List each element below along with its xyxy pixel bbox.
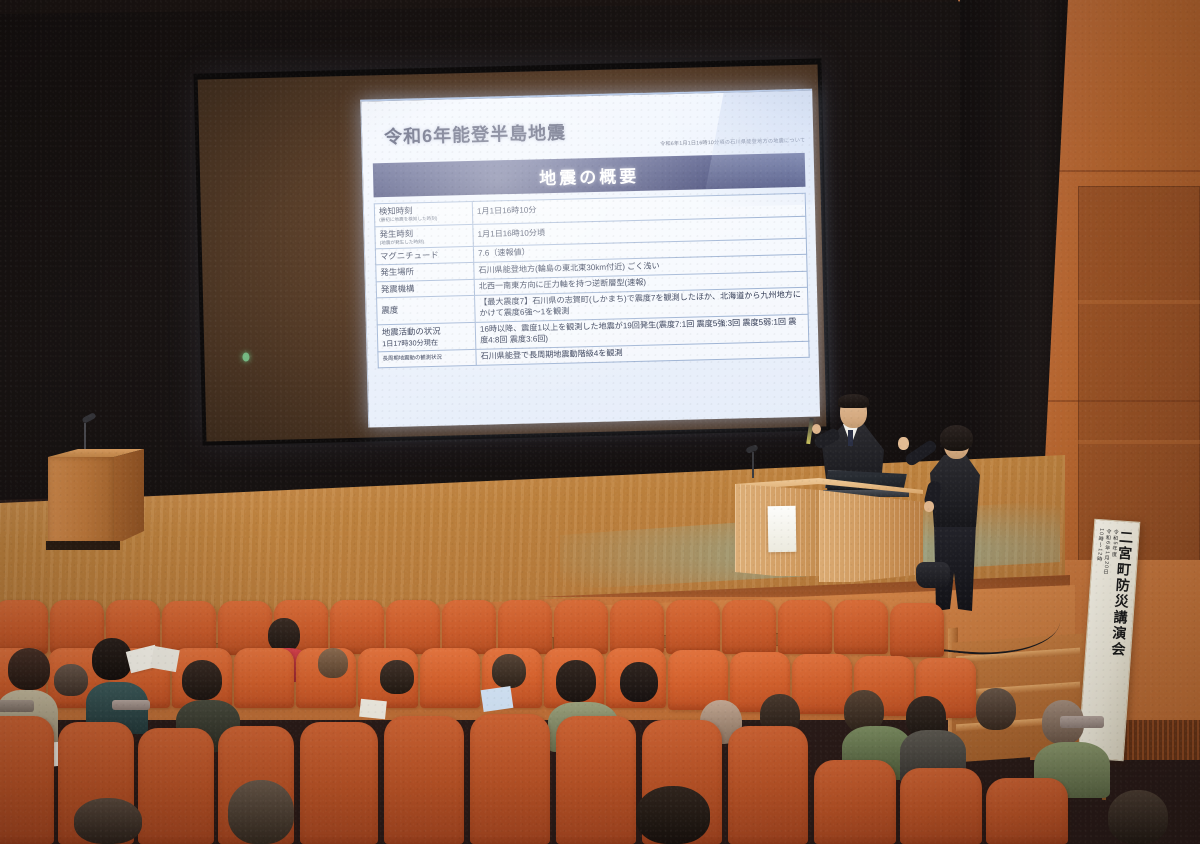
seat[interactable] <box>814 760 896 844</box>
table-row-label: 検知時刻 (最初に地震を検知した時刻) <box>374 201 473 226</box>
podium-mic-stem <box>84 423 86 451</box>
slide-subtitle: 令和6年1月1日16時10分頃の石川県能登地方の地震について <box>660 137 805 148</box>
seat[interactable] <box>386 600 440 654</box>
slide-section-heading-text: 地震の概要 <box>539 161 640 188</box>
row-label-main: 発震機構 <box>381 282 470 296</box>
audience-head <box>556 660 596 702</box>
lectern-right-face <box>819 490 923 582</box>
projection-screen: 令和6年能登半島地震 令和6年1月1日16時10分頃の石川県能登地方の地震につい… <box>194 58 831 445</box>
slide-title: 令和6年能登半島地震 <box>384 119 567 149</box>
handout-paper <box>150 646 179 672</box>
wooden-lectern <box>735 470 925 590</box>
audience-head <box>268 618 300 652</box>
seat[interactable] <box>384 716 464 844</box>
audience-head <box>976 688 1016 730</box>
seat[interactable] <box>0 600 48 654</box>
seat[interactable] <box>556 716 636 844</box>
device-screen <box>481 686 514 712</box>
seat[interactable] <box>218 601 272 655</box>
audience-head <box>92 638 132 680</box>
table-row-label: 震度 <box>377 296 476 325</box>
audience-head <box>54 664 88 696</box>
audience-head <box>492 654 526 688</box>
lectern-wood-slats <box>819 490 923 582</box>
row-label-sub: 1日17時30分現在 <box>382 337 471 349</box>
table-row-label: 発生時刻 (地震が発生した時刻) <box>375 224 474 249</box>
podium-front-panel <box>48 457 114 545</box>
wall-seam <box>1078 440 1200 444</box>
seat[interactable] <box>728 726 808 844</box>
audience-head <box>620 662 658 702</box>
seat[interactable] <box>138 728 214 844</box>
handout-paper <box>359 699 387 720</box>
audience-head <box>318 648 348 678</box>
audience-head <box>182 660 222 700</box>
seat[interactable] <box>610 600 664 654</box>
seat[interactable] <box>330 600 384 654</box>
seat[interactable] <box>162 601 216 655</box>
seat[interactable] <box>792 654 852 714</box>
seat[interactable] <box>234 648 294 708</box>
audience-head <box>8 648 50 690</box>
presentation-slide: 令和6年能登半島地震 令和6年1月1日16時10分頃の石川県能登地方の地震につい… <box>360 89 820 428</box>
seat[interactable] <box>666 600 720 654</box>
audience-head-foreground <box>1108 790 1168 844</box>
seat[interactable] <box>900 768 982 844</box>
interpreter-signing-hand <box>898 437 909 450</box>
seat[interactable] <box>890 603 944 657</box>
stage-left-podium <box>48 449 144 547</box>
row-label-sub: (最初に地震を検知した時刻) <box>379 215 468 223</box>
seat[interactable] <box>986 778 1068 844</box>
wall-seam <box>1078 300 1200 304</box>
seat-armrest <box>112 700 150 710</box>
seat[interactable] <box>554 600 608 654</box>
podium-base <box>46 541 120 550</box>
seat-armrest <box>0 700 34 712</box>
audience-head-foreground <box>636 786 710 844</box>
audience-head-foreground <box>228 780 294 844</box>
audience-head <box>380 660 414 694</box>
row-label-main: 発生場所 <box>380 265 469 279</box>
seat[interactable] <box>834 600 888 654</box>
table-row-label: 地震活動の状況 1日17時30分現在 <box>377 322 476 351</box>
audience-head-foreground <box>74 798 142 844</box>
row-label-main: 長周期地震動の観測状況 <box>382 354 471 363</box>
lectern-paper-sign <box>768 506 797 552</box>
interpreter-hair <box>940 425 973 451</box>
interpreter-lower-hand <box>924 501 934 512</box>
seat[interactable] <box>300 722 378 844</box>
speaker-hair <box>838 394 869 408</box>
table-row-label: 長周期地震動の観測状況 <box>378 349 476 367</box>
slide-glare <box>702 89 820 208</box>
seat-armrest <box>1060 716 1104 728</box>
screen-indicator-light-icon <box>242 352 249 361</box>
seat[interactable] <box>442 600 496 654</box>
seat[interactable] <box>722 600 776 654</box>
earthquake-summary-table: 検知時刻 (最初に地震を検知した時刻) 1月1日16時10分 発生時刻 (地震が… <box>374 193 810 368</box>
seat[interactable] <box>498 600 552 654</box>
speaker-hand <box>812 424 821 434</box>
podium-side-panel <box>114 449 144 541</box>
lecture-hall-photo: 令和6年能登半島地震 令和6年1月1日16時10分頃の石川県能登地方の地震につい… <box>0 0 1200 844</box>
row-label-sub: (地震が発生した時刻) <box>380 238 469 246</box>
row-label-main: マグニチュード <box>380 249 469 263</box>
slide-section-header: 地震の概要 <box>373 153 806 198</box>
seat[interactable] <box>470 714 550 844</box>
seat[interactable] <box>420 648 480 708</box>
seat[interactable] <box>778 600 832 654</box>
speaker-necktie <box>848 430 853 446</box>
seat[interactable] <box>0 716 54 844</box>
row-label-main: 震度 <box>381 303 470 317</box>
